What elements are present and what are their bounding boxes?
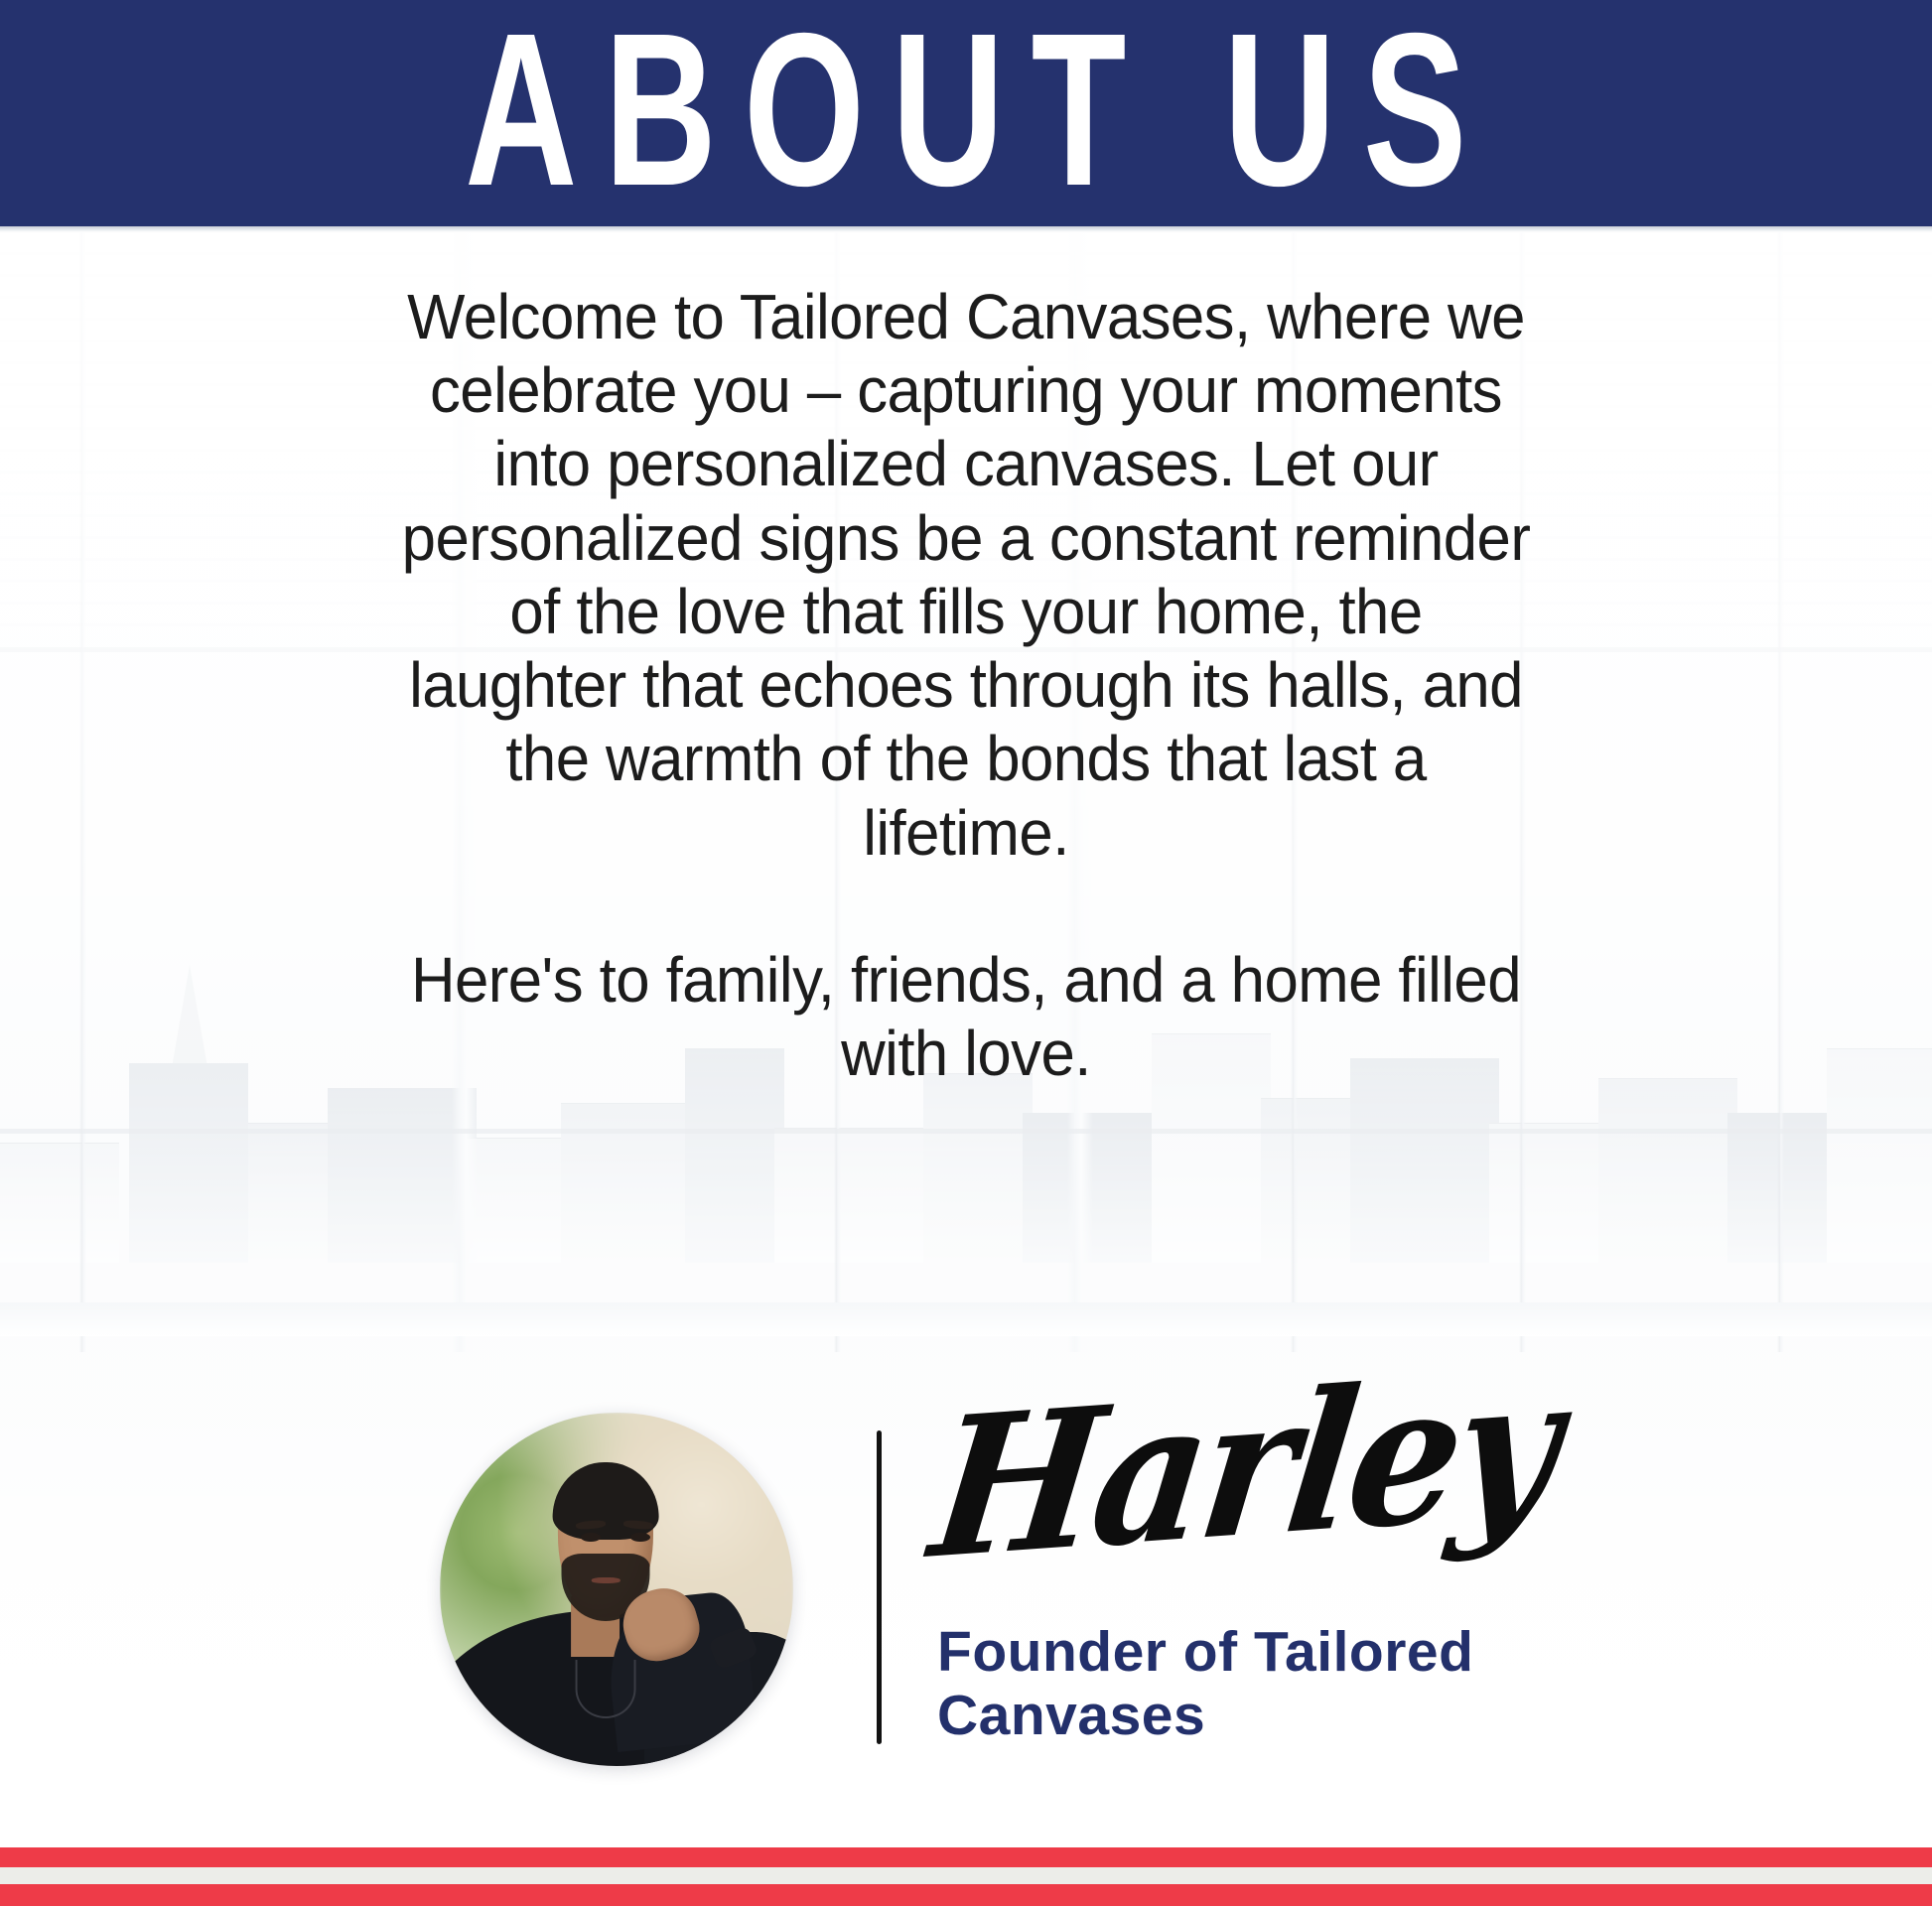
header-bar: ABOUT US <box>0 0 1932 226</box>
author-block: Harley Founder of Tailored Canvases <box>0 1405 1932 1822</box>
about-us-body-copy: Welcome to Tailored Canvases, where we c… <box>380 280 1552 1091</box>
paragraph-1: Welcome to Tailored Canvases, where we c… <box>380 280 1552 870</box>
footer-bar-red-bottom <box>0 1884 1932 1906</box>
footer-bar-red-top <box>0 1847 1932 1867</box>
avatar <box>440 1413 793 1766</box>
founder-role: Founder of Tailored Canvases <box>937 1621 1533 1748</box>
avatar-necklace <box>576 1660 636 1718</box>
avatar-mouth <box>592 1577 620 1583</box>
founder-role-line-1: Founder of Tailored <box>937 1620 1473 1684</box>
paragraph-2: Here's to family, friends, and a home fi… <box>380 943 1552 1090</box>
founder-role-line-2: Canvases <box>937 1684 1205 1747</box>
signature-block: Harley Founder of Tailored Canvases <box>923 1395 1539 1585</box>
about-us-poster: ABOUT US Welcome to Tailored Canvases, w… <box>0 0 1932 1906</box>
vertical-divider <box>877 1430 882 1744</box>
paragraph-2-text: Here's to family, friends, and a home fi… <box>401 943 1532 1090</box>
paragraph-1-text: Welcome to Tailored Canvases, where we c… <box>401 280 1532 870</box>
header-bottom-edge <box>0 226 1932 232</box>
footer-bar-gap <box>0 1867 1932 1884</box>
page-title: ABOUT US <box>438 1 1494 219</box>
founder-signature: Harley <box>923 1355 1501 1586</box>
